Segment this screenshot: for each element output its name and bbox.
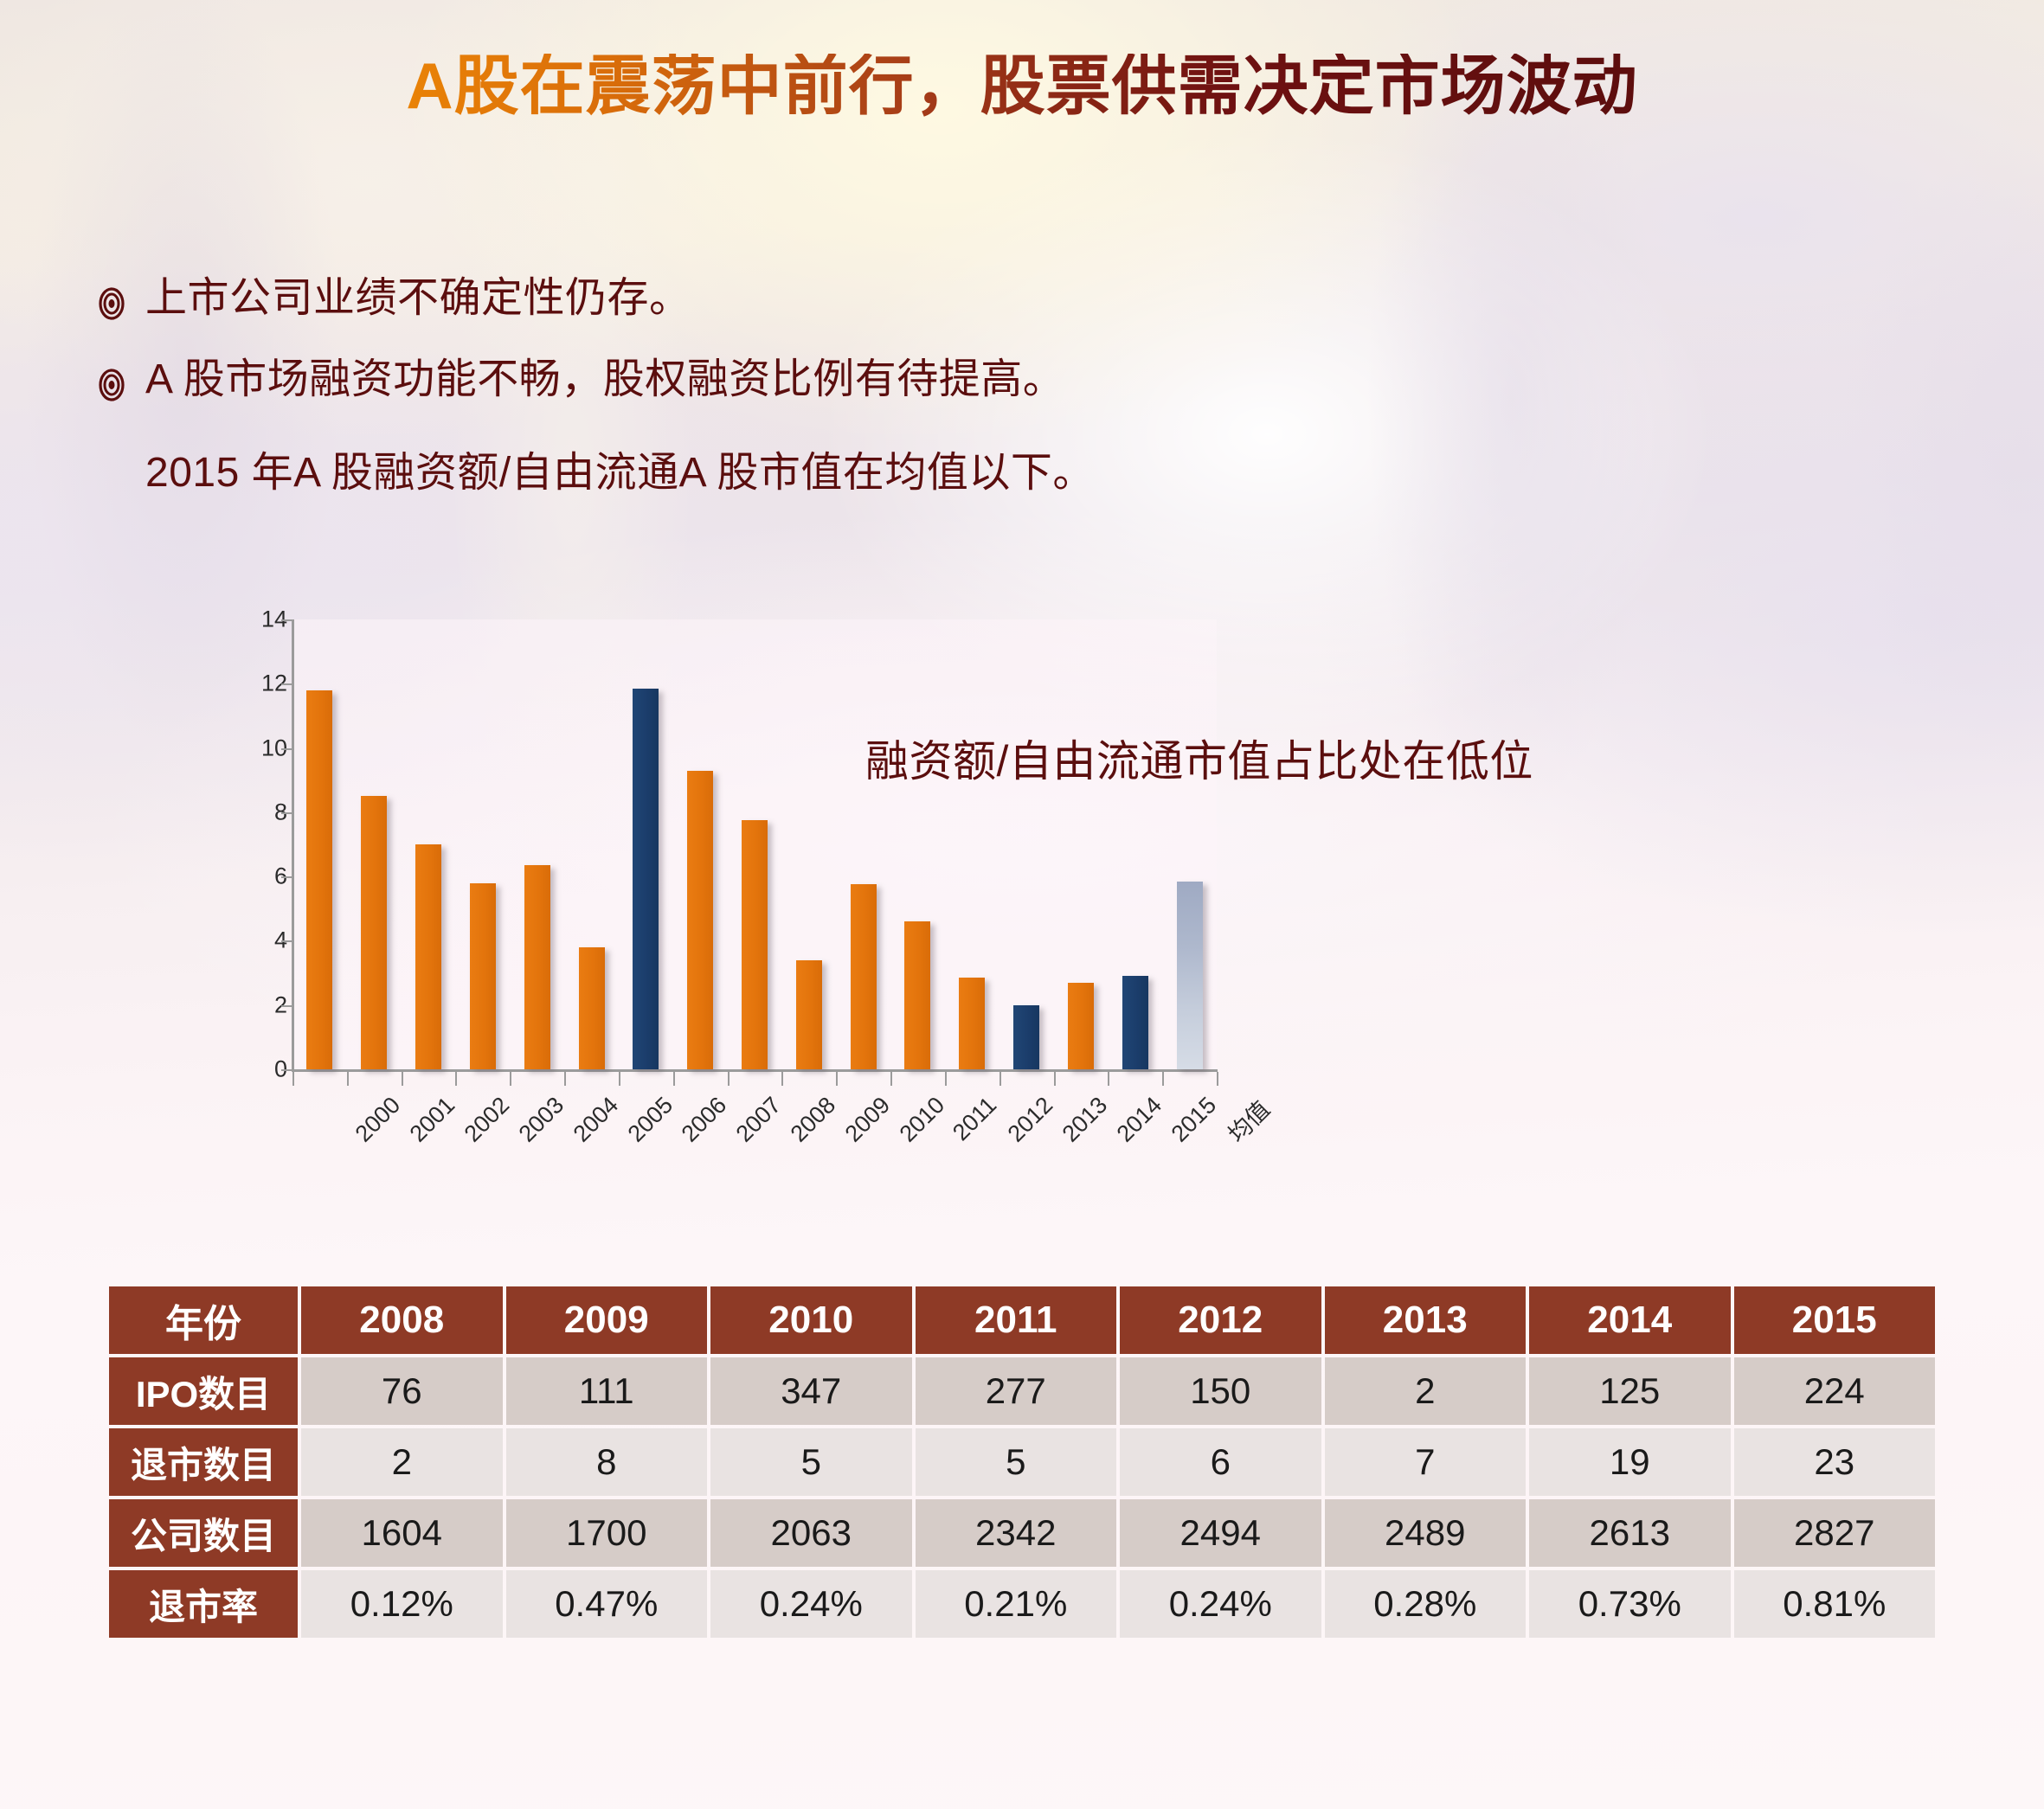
bullet-item-1: 上市公司业绩不确定性仍存。 [93,275,1095,322]
table-header-year: 2008 [301,1286,503,1354]
table-cell: 125 [1529,1357,1731,1425]
table-cell: 0.81% [1734,1570,1936,1638]
chart-bar [1122,976,1148,1069]
table-cell: 0.12% [301,1570,503,1638]
chart-bar [415,844,441,1069]
x-tick-mark [673,1072,675,1086]
table-cell: 2063 [710,1499,912,1567]
table-cell: 8 [506,1428,708,1496]
table-row-label: IPO数目 [109,1357,298,1425]
y-tick-label: 4 [227,927,287,954]
x-tick-mark [564,1072,566,1086]
table-header-corner: 年份 [109,1286,298,1354]
chart-bar [1177,882,1203,1069]
x-tick-mark [619,1072,620,1086]
spiral-bullet-icon [93,285,130,330]
financing-ratio-bar-chart: 02468101214 2000200120022003200420052006… [218,597,1231,1133]
x-tick-mark [455,1072,457,1086]
x-tick-mark [781,1072,783,1086]
table-cell: 2827 [1734,1499,1936,1567]
chart-bar [851,884,877,1069]
table-row: 公司数目16041700206323422494248926132827 [109,1499,1935,1567]
y-tick-label: 2 [227,991,287,1018]
x-tick-mark [1000,1072,1001,1086]
x-axis [292,1069,1218,1072]
y-tick-label: 14 [227,606,287,633]
bullet-sub-line: 2015 年A 股融资额/自由流通A 股市值在均值以下。 [145,438,1095,498]
table-header-year: 2010 [710,1286,912,1354]
x-tick-mark [1217,1072,1218,1086]
x-tick-mark [1054,1072,1056,1086]
y-tick-label: 8 [227,799,287,825]
table-header-year: 2015 [1734,1286,1936,1354]
table-cell: 2489 [1325,1499,1527,1567]
table-cell: 150 [1120,1357,1321,1425]
table-cell: 2613 [1529,1499,1731,1567]
chart-bar [1013,1005,1039,1069]
chart-bar [742,820,768,1069]
bullet-item-1-label: 上市公司业绩不确定性仍存。 [145,275,691,322]
x-tick-mark [836,1072,838,1086]
table-cell: 347 [710,1357,912,1425]
x-tick-mark [945,1072,947,1086]
table-header-year: 2009 [506,1286,708,1354]
chart-bar [579,947,605,1069]
table-cell: 0.47% [506,1570,708,1638]
x-tick-mark [402,1072,403,1086]
table-row: 退市数目2855671923 [109,1428,1935,1496]
chart-bar [796,960,822,1069]
x-tick-mark [347,1072,349,1086]
table-cell: 0.24% [1120,1570,1321,1638]
x-tick-mark [292,1072,294,1086]
chart-bar [524,865,550,1069]
table-row-label: 退市率 [109,1570,298,1638]
y-tick-label: 6 [227,863,287,890]
x-tick-mark [510,1072,511,1086]
spiral-bullet-icon [93,367,130,412]
y-tick-mark [281,748,292,750]
table-cell: 111 [506,1357,708,1425]
y-tick-mark [281,1005,292,1007]
table-cell: 2494 [1120,1499,1321,1567]
table-cell: 1604 [301,1499,503,1567]
chart-bar [306,690,332,1069]
y-axis [292,619,294,1069]
table-cell: 19 [1529,1428,1731,1496]
chart-bar [959,978,985,1069]
y-tick-mark [281,1069,292,1071]
chart-annotation-label: 融资额/自由流通市值占比处在低位 [865,727,1533,789]
table-cell: 0.73% [1529,1570,1731,1638]
x-tick-mark [1108,1072,1109,1086]
y-tick-label: 0 [227,1056,287,1083]
bullet-list: 上市公司业绩不确定性仍存。 A 股市场融资功能不畅，股权融资比例有待提高。 20… [93,275,1095,498]
page-title: A股在震荡中前行，股票供需决定市场波动 [0,54,2044,119]
y-tick-mark [281,619,292,621]
chart-bar [470,883,496,1069]
table-header-year: 2012 [1120,1286,1321,1354]
table-cell: 23 [1734,1428,1936,1496]
table-cell: 7 [1325,1428,1527,1496]
x-tick-mark [890,1072,892,1086]
table-header-year: 2011 [916,1286,1117,1354]
table-header-year: 2014 [1529,1286,1731,1354]
y-tick-mark [281,940,292,942]
table-cell: 6 [1120,1428,1321,1496]
y-tick-mark [281,812,292,814]
table-cell: 1700 [506,1499,708,1567]
table-cell: 0.24% [710,1570,912,1638]
chart-bar [361,796,387,1069]
table-row-label: 退市数目 [109,1428,298,1496]
table-cell: 2 [301,1428,503,1496]
table-row-label: 公司数目 [109,1499,298,1567]
table-cell: 2342 [916,1499,1117,1567]
table-cell: 224 [1734,1357,1936,1425]
chart-bar [1068,983,1094,1069]
y-tick-mark [281,683,292,685]
ipo-delisting-table: 年份20082009201020112012201320142015 IPO数目… [106,1283,1938,1641]
y-tick-label: 12 [227,670,287,697]
table-cell: 5 [710,1428,912,1496]
table-header-year: 2013 [1325,1286,1527,1354]
table-body: IPO数目761113472771502125224退市数目2855671923… [109,1357,1935,1638]
table-cell: 0.28% [1325,1570,1527,1638]
bullet-item-2-label: A 股市场融资功能不畅，股权融资比例有待提高。 [145,356,1064,403]
y-tick-mark [281,876,292,878]
table-row: IPO数目761113472771502125224 [109,1357,1935,1425]
x-tick-mark [1162,1072,1164,1086]
table-cell: 5 [916,1428,1117,1496]
table-cell: 76 [301,1357,503,1425]
chart-bar [687,771,713,1069]
table-row: 退市率0.12%0.47%0.24%0.21%0.24%0.28%0.73%0.… [109,1570,1935,1638]
table-header-row: 年份20082009201020112012201320142015 [109,1286,1935,1354]
chart-bar [904,921,930,1069]
x-tick-mark [728,1072,730,1086]
table: 年份20082009201020112012201320142015 IPO数目… [106,1283,1938,1641]
table-cell: 2 [1325,1357,1527,1425]
table-cell: 277 [916,1357,1117,1425]
y-tick-label: 10 [227,735,287,761]
table-cell: 0.21% [916,1570,1117,1638]
bullet-item-2: A 股市场融资功能不畅，股权融资比例有待提高。 [93,356,1095,403]
chart-bar [633,689,659,1069]
